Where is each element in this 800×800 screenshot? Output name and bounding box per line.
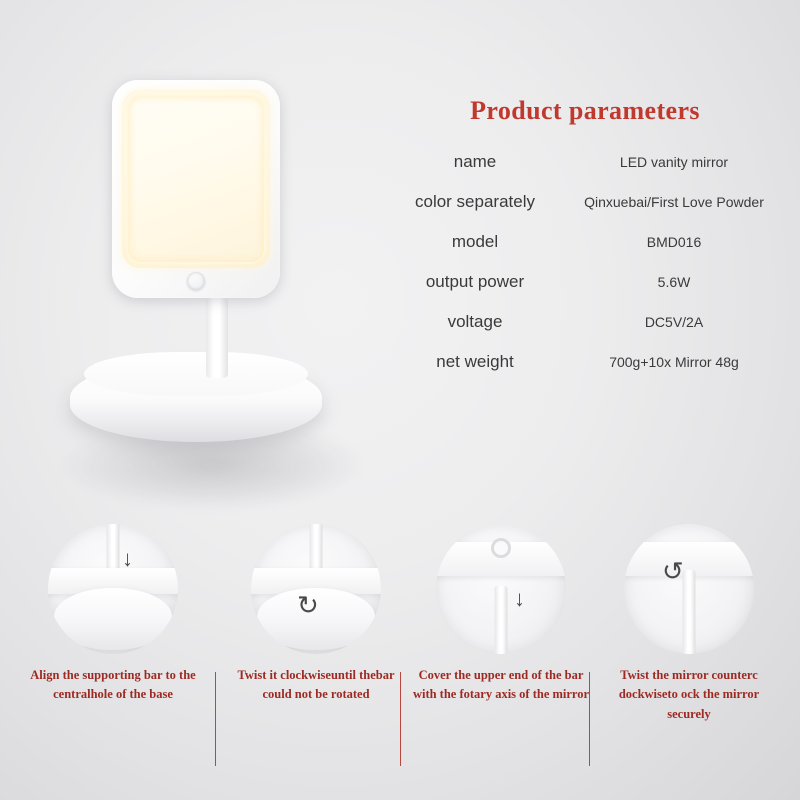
product-image (52, 60, 382, 490)
step-illustration: ↻ (251, 524, 381, 654)
parameters-panel: Product parameters name LED vanity mirro… (386, 96, 784, 392)
parameter-row: model BMD016 (386, 232, 784, 252)
parameter-value: 700g+10x Mirror 48g (564, 354, 784, 370)
step-caption: Cover the upper end of the bar with the … (406, 666, 596, 705)
down-arrow-icon: ↓ (122, 548, 133, 570)
parameter-value: BMD016 (564, 234, 784, 250)
assembly-step-2: ↻ Twist it clockwiseuntil thebar could n… (221, 524, 411, 705)
assembly-step-4: ↺ Twist the mirror counterc dockwiseto o… (594, 524, 784, 724)
mirror-base-top (84, 352, 308, 396)
parameter-row: net weight 700g+10x Mirror 48g (386, 352, 784, 372)
parameter-row: name LED vanity mirror (386, 152, 784, 172)
step-caption: Align the supporting bar to the centralh… (18, 666, 208, 705)
parameter-row: output power 5.6W (386, 272, 784, 292)
parameter-label: output power (386, 272, 564, 292)
step-illustration: ↓ (436, 524, 566, 654)
parameter-value: DC5V/2A (564, 314, 784, 330)
assembly-steps: ↓ Align the supporting bar to the centra… (0, 524, 800, 774)
mirror-frame (112, 80, 280, 298)
parameter-row: color separately Qinxuebai/First Love Po… (386, 192, 784, 212)
parameter-value: LED vanity mirror (564, 154, 784, 170)
step-illustration: ↺ (624, 524, 754, 654)
assembly-step-1: ↓ Align the supporting bar to the centra… (18, 524, 208, 705)
step-divider (589, 672, 590, 766)
mirror-power-button-icon (187, 272, 205, 290)
page-title: Product parameters (386, 96, 784, 126)
mirror-lit-glass (122, 90, 270, 268)
step-divider (400, 672, 401, 766)
counterclockwise-rotate-icon: ↺ (662, 558, 684, 584)
rotary-axis-icon (491, 538, 511, 558)
parameter-row: voltage DC5V/2A (386, 312, 784, 332)
base-plate-shape (54, 588, 172, 650)
parameter-value: Qinxuebai/First Love Powder (564, 194, 784, 210)
parameter-label: model (386, 232, 564, 252)
step-divider (215, 672, 216, 766)
parameter-label: net weight (386, 352, 564, 372)
step-caption: Twist the mirror counterc dockwiseto ock… (594, 666, 784, 724)
parameter-label: voltage (386, 312, 564, 332)
parameter-label: color separately (386, 192, 564, 212)
step-caption: Twist it clockwiseuntil thebar could not… (221, 666, 411, 705)
assembly-step-3: ↓ Cover the upper end of the bar with th… (406, 524, 596, 705)
parameter-label: name (386, 152, 564, 172)
step-illustration: ↓ (48, 524, 178, 654)
parameter-value: 5.6W (564, 274, 784, 290)
support-bar-shape (495, 586, 508, 654)
clockwise-rotate-icon: ↻ (297, 592, 319, 618)
mirror-support-bar (206, 298, 228, 378)
support-bar-shape (683, 570, 696, 654)
down-arrow-icon: ↓ (514, 588, 525, 610)
